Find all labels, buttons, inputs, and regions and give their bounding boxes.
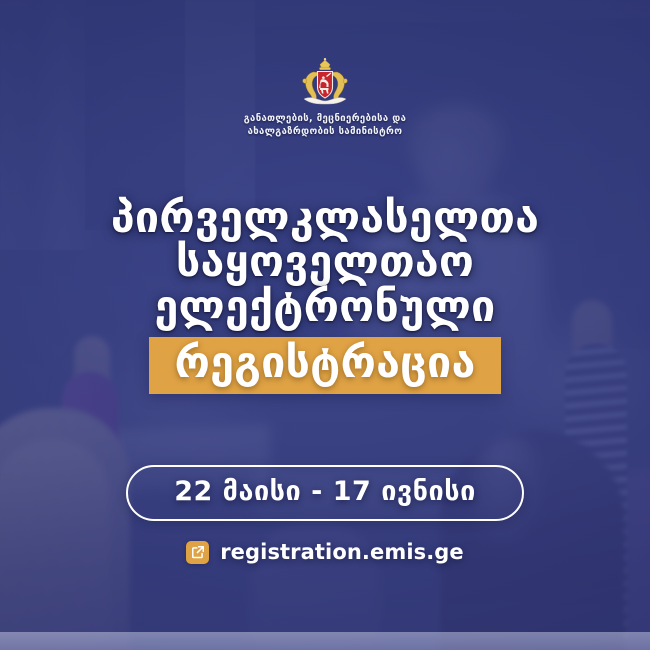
ministry-name: განათლების, მეცნიერებისა და ახალგაზრდობი…	[244, 113, 407, 139]
ministry-line-2: ახალგაზრდობის სამინისტრო	[248, 126, 403, 137]
website-url[interactable]: registration.emis.ge	[220, 540, 464, 564]
ministry-identity-block: განათლების, მეცნიერებისა და ახალგაზრდობი…	[0, 58, 650, 139]
date-range-container: 22 მაისი - 17 ივნისი	[0, 465, 650, 521]
georgia-coat-of-arms-icon	[297, 58, 353, 108]
headline: პირველკლასელთა საყოველთაო ელექტრონული რე…	[0, 196, 650, 394]
promo-poster: განათლების, მეცნიერებისა და ახალგაზრდობი…	[0, 0, 650, 650]
headline-line-1: პირველკლასელთა	[0, 196, 650, 240]
date-range-pill: 22 მაისი - 17 ივნისი	[126, 465, 524, 521]
headline-line-2: საყოველთაო	[0, 240, 650, 284]
website-row[interactable]: registration.emis.ge	[0, 540, 650, 564]
external-link-icon	[186, 541, 209, 564]
poster-content: განათლების, მეცნიერებისა და ახალგაზრდობი…	[0, 0, 650, 650]
ministry-line-1: განათლების, მეცნიერებისა და	[244, 113, 407, 124]
registration-badge: რეგისტრაცია	[149, 337, 502, 394]
headline-badge-wrap: რეგისტრაცია	[0, 337, 650, 394]
headline-line-3: ელექტრონული	[0, 285, 650, 329]
